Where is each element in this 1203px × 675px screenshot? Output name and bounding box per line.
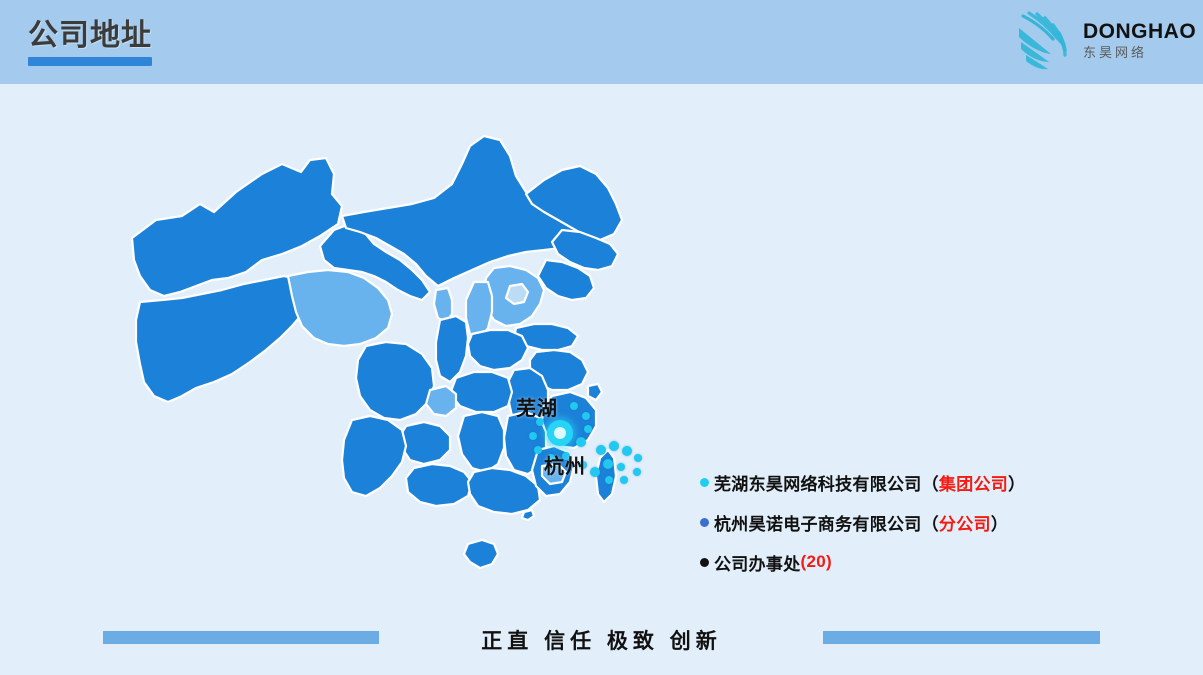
legend-item-branch-company: 杭州昊诺电子商务有限公司（分公司）	[700, 502, 1100, 542]
office-marker	[634, 454, 642, 462]
legend-bullet-black	[700, 558, 709, 567]
legend-accent-group-company: 集团公司	[939, 470, 1008, 495]
office-marker	[617, 463, 625, 471]
title-block: 公司地址	[28, 19, 152, 66]
title-underline-bar	[28, 57, 152, 66]
office-marker	[590, 467, 600, 477]
wing-fan-logo-icon	[1013, 8, 1079, 76]
office-marker	[584, 425, 592, 433]
legend-accent-offices-count: (20)	[801, 552, 832, 572]
map-label-hangzhou: 杭州	[544, 450, 586, 479]
office-marker	[603, 459, 613, 469]
slide-header: 公司地址	[0, 0, 1203, 84]
office-marker	[570, 402, 578, 410]
logo-subtitle: 东昊网络	[1083, 44, 1191, 61]
office-marker	[582, 412, 590, 420]
legend-accent-branch-company: 分公司	[939, 510, 991, 535]
map-label-wuhu: 芜湖	[516, 392, 558, 421]
legend-label-group-company: 芜湖东昊网络科技有限公司（	[714, 470, 939, 495]
legend-label-offices: 公司办事处	[714, 550, 801, 575]
hq-marker-wuhu	[547, 420, 573, 446]
legend-item-group-company: 芜湖东昊网络科技有限公司（集团公司）	[700, 462, 1100, 502]
legend-bullet-cyan	[700, 478, 709, 487]
office-marker	[620, 476, 628, 484]
office-marker	[529, 432, 537, 440]
legend-bullet-blue	[700, 518, 709, 527]
office-marker	[576, 437, 586, 447]
legend-tail-branch-company: ）	[991, 510, 1008, 535]
company-logo: DONGHAO 东昊网络	[1011, 6, 1191, 78]
office-marker	[609, 441, 619, 451]
map-markers-layer: 芜湖杭州	[96, 120, 716, 610]
legend-label-branch-company: 杭州昊诺电子商务有限公司（	[714, 510, 939, 535]
logo-name: DONGHAO	[1083, 20, 1191, 43]
office-marker	[622, 446, 632, 456]
page-title: 公司地址	[28, 19, 152, 53]
footer-bar-right	[823, 631, 1100, 644]
legend-item-offices: 公司办事处(20)	[700, 542, 1100, 582]
office-marker	[534, 446, 542, 454]
legend-tail-group-company: ）	[1008, 470, 1025, 495]
office-marker	[633, 468, 641, 476]
china-map-container: 芜湖杭州	[96, 120, 716, 610]
map-legend: 芜湖东昊网络科技有限公司（集团公司） 杭州昊诺电子商务有限公司（分公司） 公司办…	[700, 462, 1100, 582]
office-marker	[605, 476, 613, 484]
office-marker	[596, 445, 606, 455]
slide-canvas: 公司地址	[0, 0, 1203, 675]
logo-text-block: DONGHAO 东昊网络	[1083, 20, 1191, 61]
